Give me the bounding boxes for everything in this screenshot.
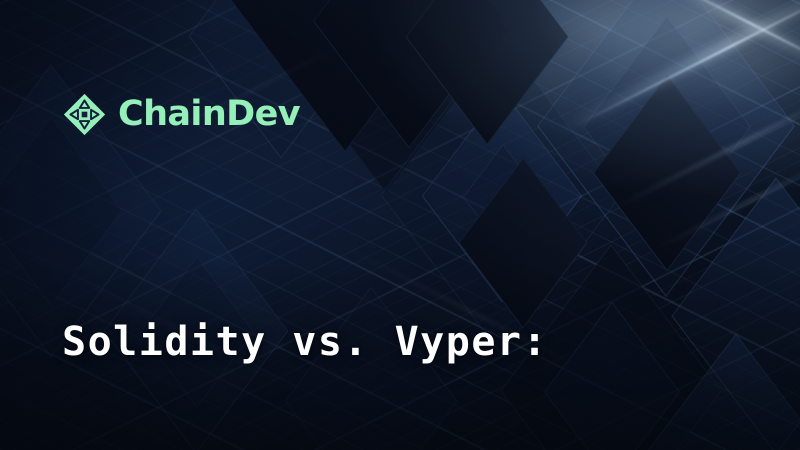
page-title-line-1: Solidity vs. Vyper:	[62, 315, 702, 370]
page-title: Solidity vs. Vyper: Which Smart Contract…	[62, 205, 702, 450]
brand-name: ChainDev	[118, 97, 300, 132]
banner-content: ChainDev Solidity vs. Vyper: Which Smart…	[0, 0, 800, 450]
diamond-arrows-icon	[62, 92, 107, 137]
cover-banner: ChainDev Solidity vs. Vyper: Which Smart…	[0, 0, 800, 450]
brand-lockup: ChainDev	[62, 92, 300, 137]
